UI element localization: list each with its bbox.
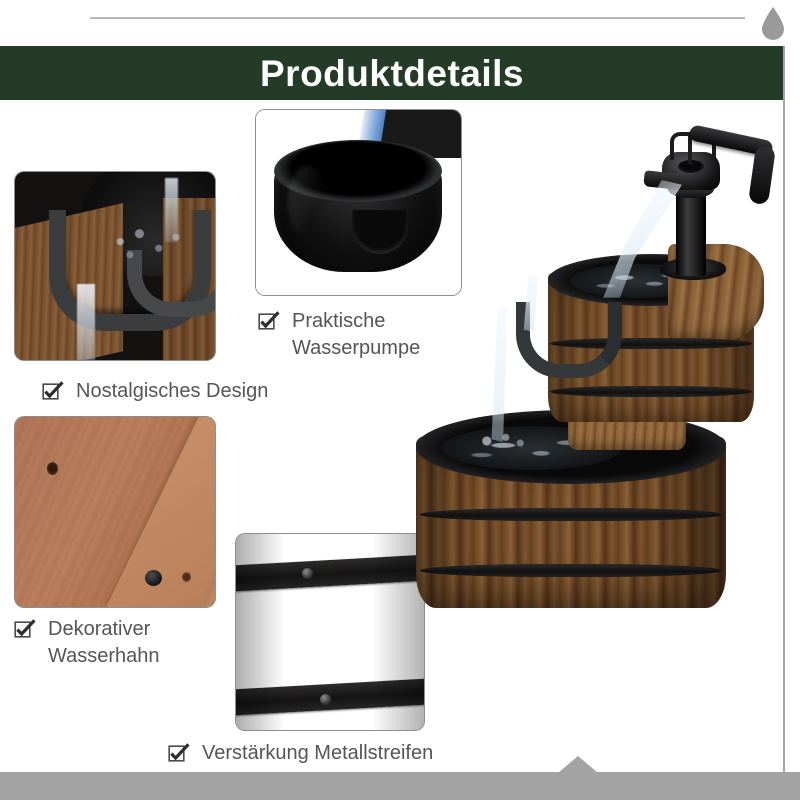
feature-image-decorative-tap — [15, 417, 215, 607]
hero-product-image — [430, 110, 790, 670]
section-banner: Produktdetails — [0, 46, 784, 100]
feature-label: Praktische Wasserpumpe — [292, 308, 420, 362]
checkbox-checked-icon — [258, 311, 280, 336]
water-droplet-icon — [760, 6, 786, 40]
feature-item-metal-straps: Verstärkung Metallstreifen — [168, 740, 528, 768]
feature-item-water-pump: Praktische Wasserpumpe — [258, 308, 458, 362]
feature-label: Dekorativer Wasserhahn — [48, 616, 160, 670]
triangle-up-icon — [558, 756, 598, 773]
checkbox-checked-icon — [14, 619, 36, 644]
feature-image-metal-straps — [236, 534, 424, 730]
checkbox-checked-icon — [168, 743, 190, 768]
feature-item-nostalgic-design: Nostalgisches Design — [42, 378, 342, 406]
product-details-page: Produktdetails — [0, 0, 800, 800]
checkbox-checked-icon — [42, 381, 64, 406]
top-divider-rule — [90, 17, 745, 19]
footer-bar — [0, 772, 800, 800]
page-title: Produktdetails — [260, 55, 524, 92]
feature-label: Verstärkung Metallstreifen — [202, 740, 433, 767]
feature-label: Nostalgisches Design — [76, 378, 268, 405]
feature-item-decorative-tap: Dekorativer Wasserhahn — [14, 616, 244, 670]
feature-image-nostalgic-design — [15, 172, 215, 360]
water-splash — [464, 428, 540, 454]
